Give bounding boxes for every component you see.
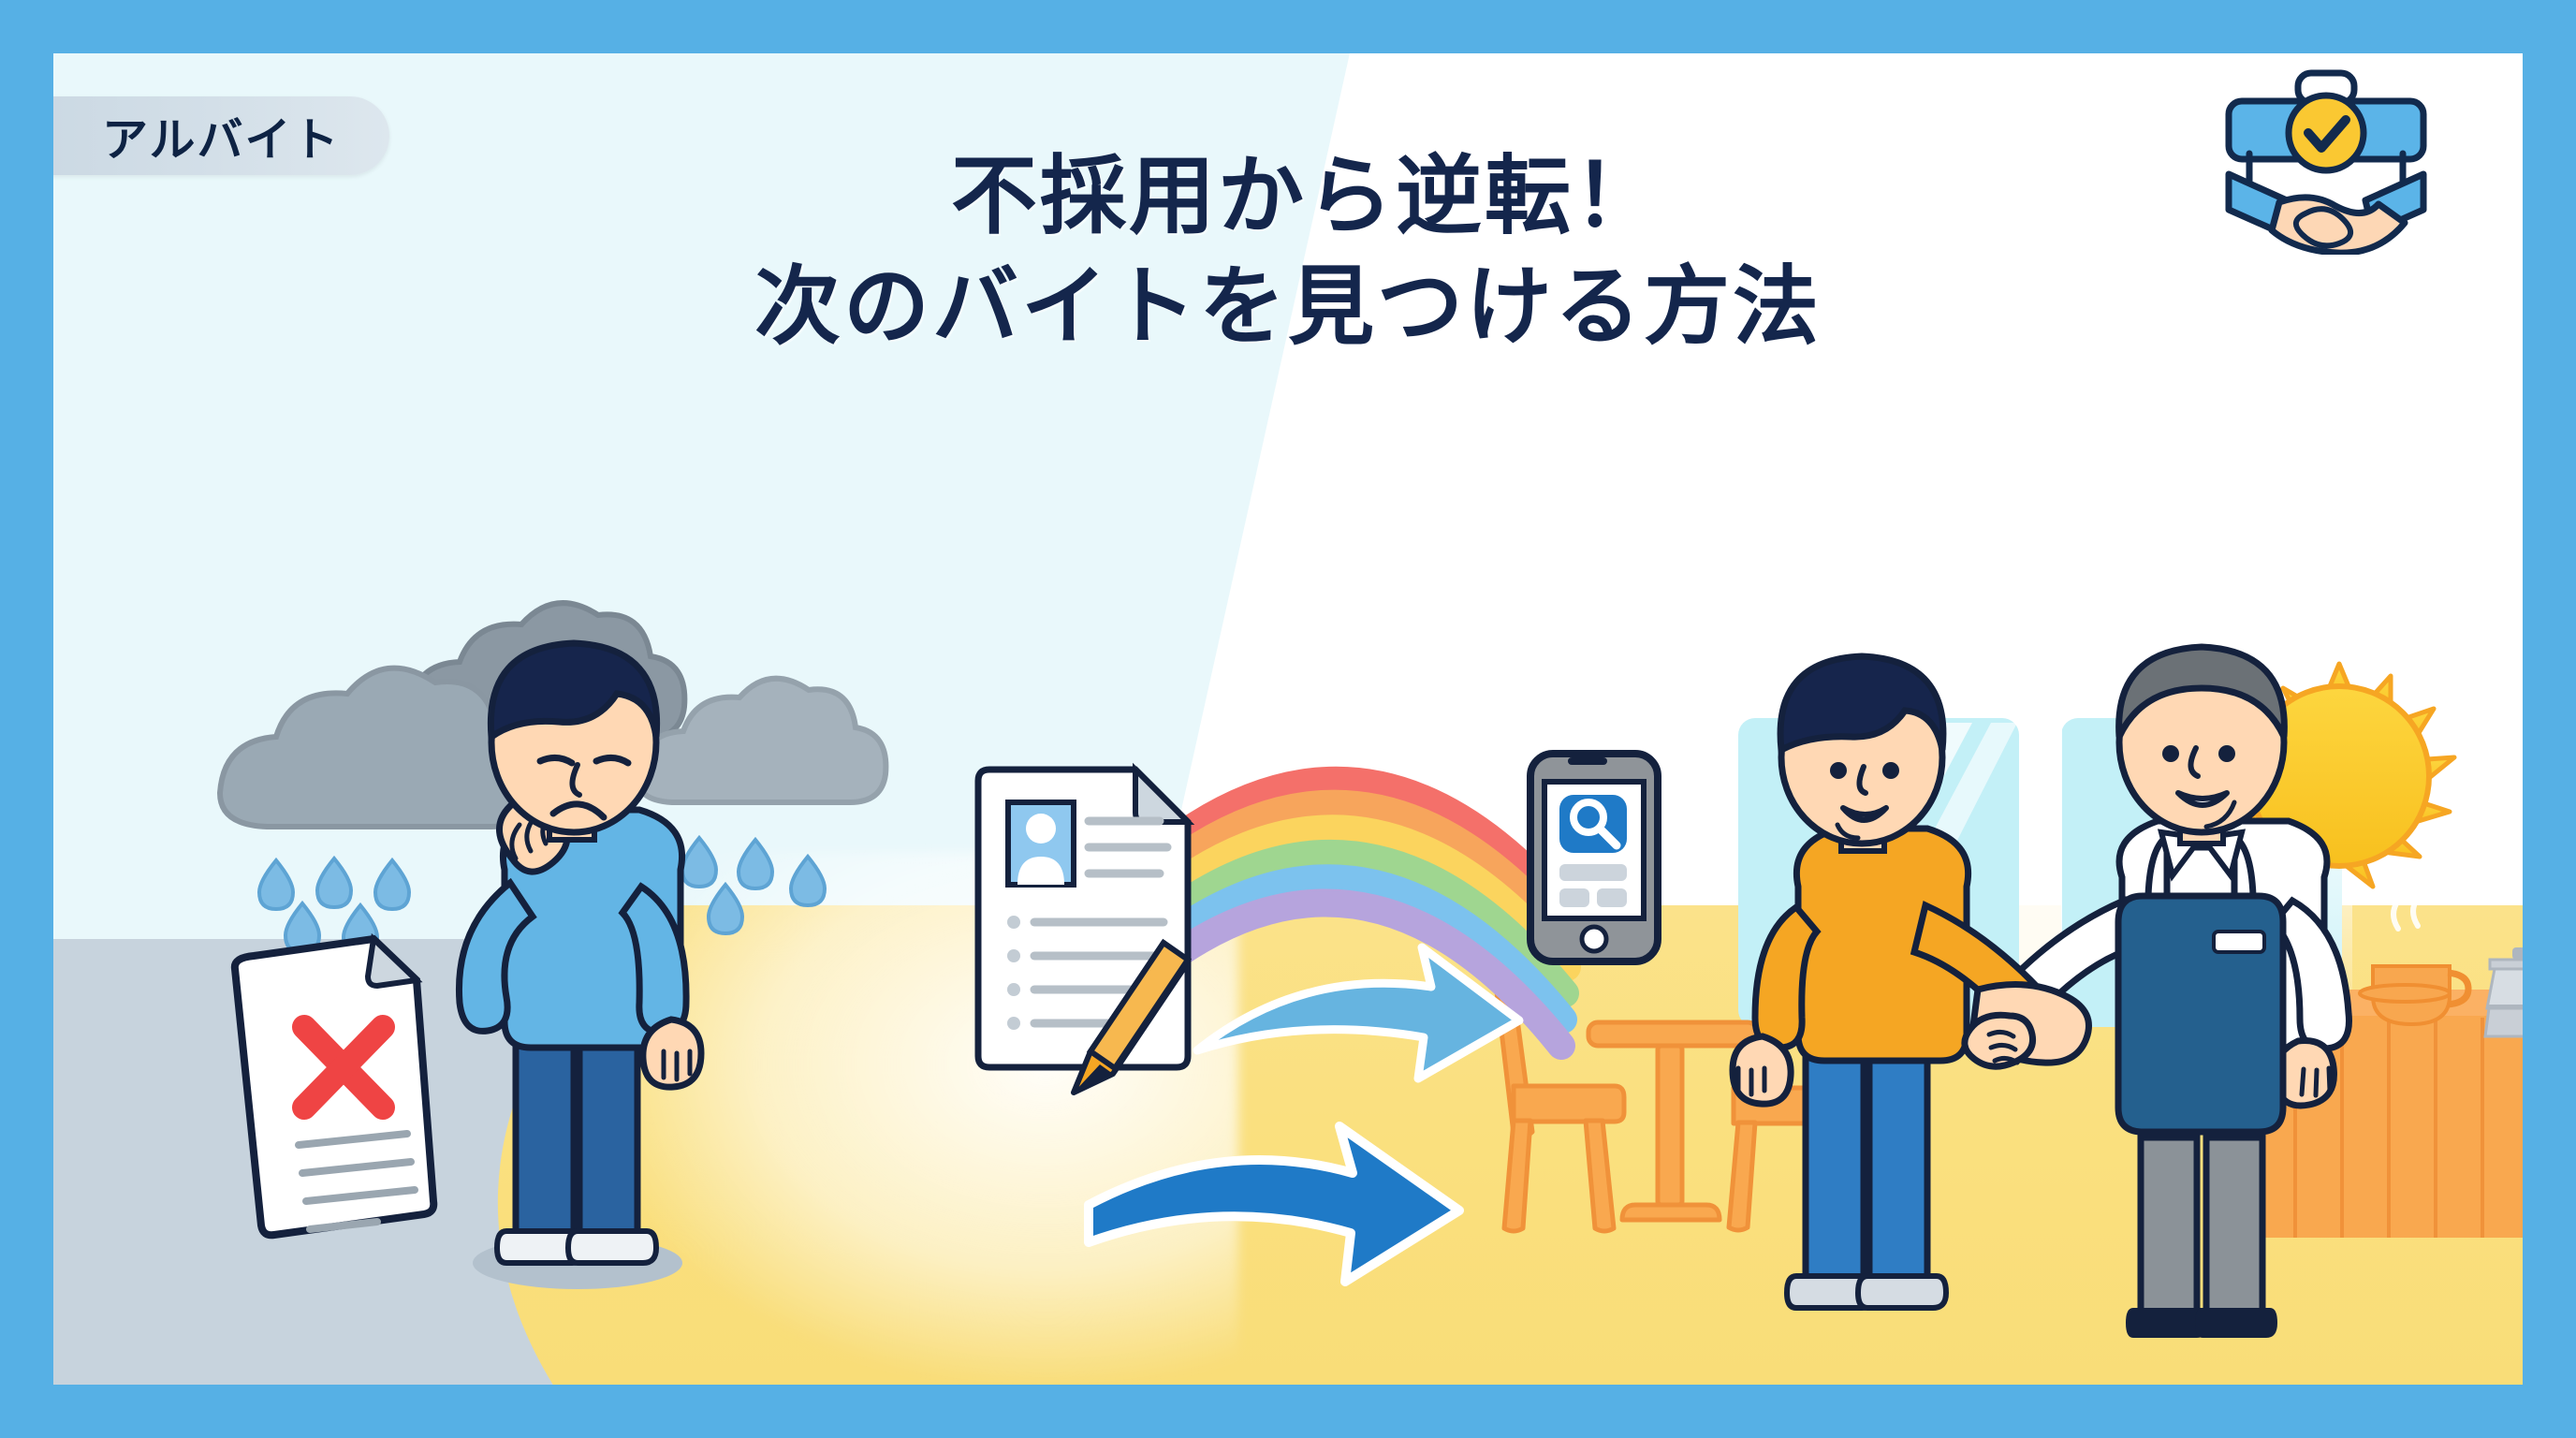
- poster-frame: アルバイト 不採用から逆転！ 次のバイトを見つける方法: [0, 0, 2576, 1438]
- arrow-lower: [1089, 1126, 1459, 1282]
- resume-document-icon: [978, 770, 1188, 1067]
- poster-canvas: アルバイト 不採用から逆転！ 次のバイトを見つける方法: [53, 53, 2523, 1385]
- moka-pot-icon: [2485, 947, 2523, 1036]
- coffee-cup-icon: [2360, 872, 2468, 1024]
- illustration-scene: [53, 53, 2523, 1385]
- manager-name-tag: [2214, 932, 2264, 952]
- handshake-gesture: [1965, 985, 2089, 1067]
- smartphone-job-search: [1530, 754, 1658, 961]
- category-badge-label: アルバイト: [102, 103, 341, 169]
- check-badge: [2289, 95, 2364, 170]
- rejection-letter: [235, 939, 433, 1235]
- briefcase-handshake-icon: [2186, 53, 2466, 255]
- category-badge[interactable]: アルバイト: [53, 96, 389, 175]
